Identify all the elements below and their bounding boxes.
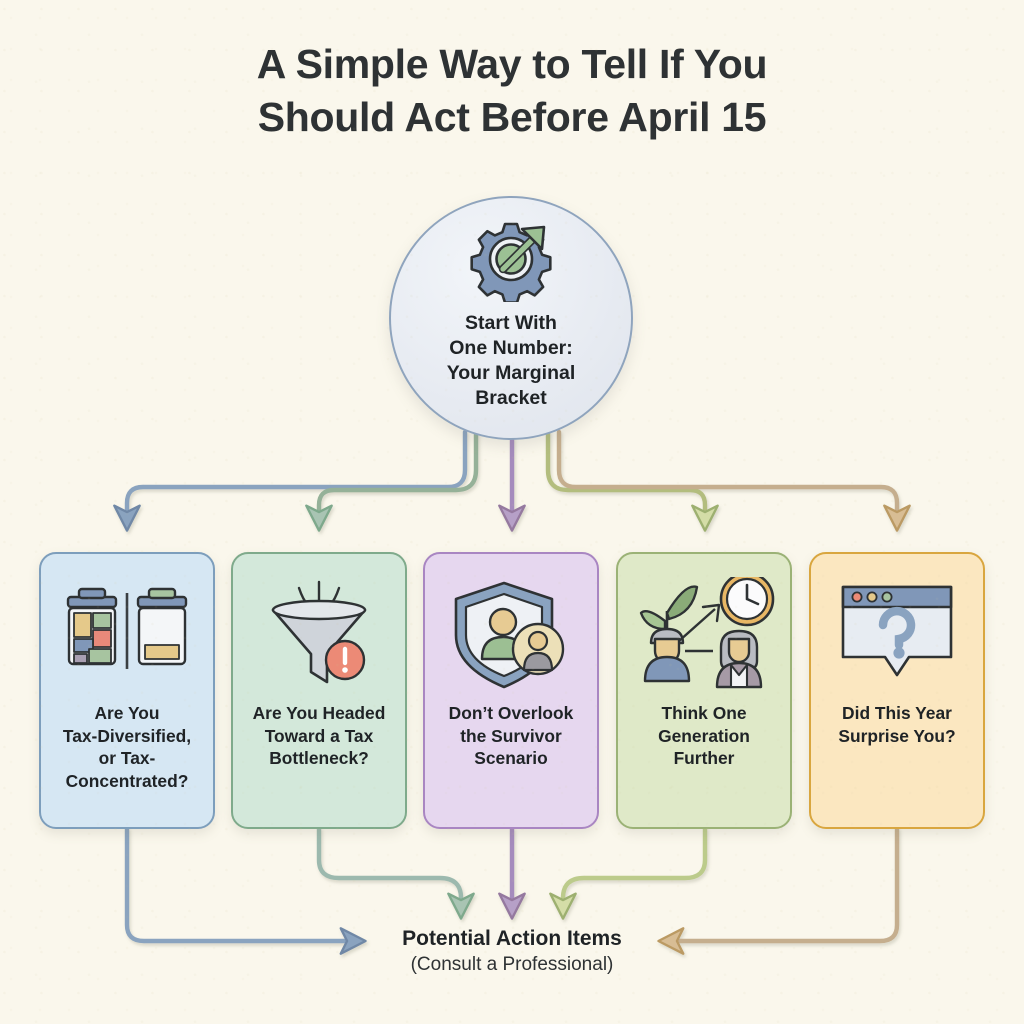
card-label: Don’t Overlook the Survivor Scenario: [442, 702, 581, 770]
connector-layer: [0, 0, 1024, 1024]
card-1-line-3: or Tax-: [99, 748, 156, 768]
card-2-line-1: Are You Headed: [253, 703, 386, 723]
shield-people-icon: [444, 576, 578, 694]
card-label: Are You Headed Toward a Tax Bottleneck?: [246, 702, 393, 770]
two-jars-icon: [54, 576, 200, 694]
footer-sub-label: (Consult a Professional): [262, 954, 762, 977]
card-3-line-2: the Survivor: [460, 726, 561, 746]
plant-people-clock-icon: [629, 576, 779, 694]
browser-question-icon: [833, 576, 961, 694]
card-4-line-2: Generation: [658, 726, 750, 746]
hub-label-line-4: Bracket: [475, 387, 547, 409]
card-5-line-2: Surprise You?: [838, 726, 955, 746]
card-1-line-4: Concentrated?: [66, 771, 189, 791]
hub-label: Start With One Number: Your Marginal Bra…: [411, 311, 611, 411]
gear-growth-arrow-icon: [465, 216, 557, 307]
card-tax-diversified[interactable]: Are You Tax-Diversified, or Tax- Concent…: [39, 552, 215, 829]
card-2-line-2: Toward a Tax: [265, 726, 374, 746]
card-4-line-3: Further: [674, 748, 735, 768]
card-3-line-1: Don’t Overlook: [449, 703, 574, 723]
connector-card-4-to-footer: [563, 829, 705, 908]
hub-label-line-1: Start With: [465, 312, 557, 334]
card-1-line-2: Tax-Diversified,: [63, 726, 191, 746]
card-survivor-scenario[interactable]: Don’t Overlook the Survivor Scenario: [423, 552, 599, 829]
connector-hub-to-card-1: [127, 432, 465, 520]
connector-card-2-to-footer: [319, 829, 461, 908]
funnel-warning-icon: [253, 576, 385, 694]
card-label: Are You Tax-Diversified, or Tax- Concent…: [56, 702, 198, 793]
hub-label-line-2: One Number:: [449, 337, 573, 359]
connector-hub-to-card-5: [559, 432, 897, 520]
card-5-line-1: Did This Year: [842, 703, 952, 723]
card-3-line-3: Scenario: [474, 748, 547, 768]
card-label: Think One Generation Further: [651, 702, 757, 770]
infographic-canvas: A Simple Way to Tell If You Should Act B…: [0, 0, 1024, 1024]
hub-label-line-3: Your Marginal: [447, 362, 576, 384]
card-year-surprise[interactable]: Did This Year Surprise You?: [809, 552, 985, 829]
card-label: Did This Year Surprise You?: [831, 702, 962, 747]
card-one-generation-further[interactable]: Think One Generation Further: [616, 552, 792, 829]
card-tax-bottleneck[interactable]: Are You Headed Toward a Tax Bottleneck?: [231, 552, 407, 829]
card-4-line-1: Think One: [661, 703, 746, 723]
connector-hub-to-card-4: [548, 432, 705, 520]
card-2-line-3: Bottleneck?: [269, 748, 369, 768]
connector-hub-to-card-2: [319, 432, 476, 520]
hub-node-marginal-bracket[interactable]: Start With One Number: Your Marginal Bra…: [389, 196, 633, 440]
card-1-line-1: Are You: [94, 703, 159, 723]
footer-outcome: Potential Action Items (Consult a Profes…: [262, 927, 762, 977]
footer-main-label: Potential Action Items: [262, 927, 762, 952]
